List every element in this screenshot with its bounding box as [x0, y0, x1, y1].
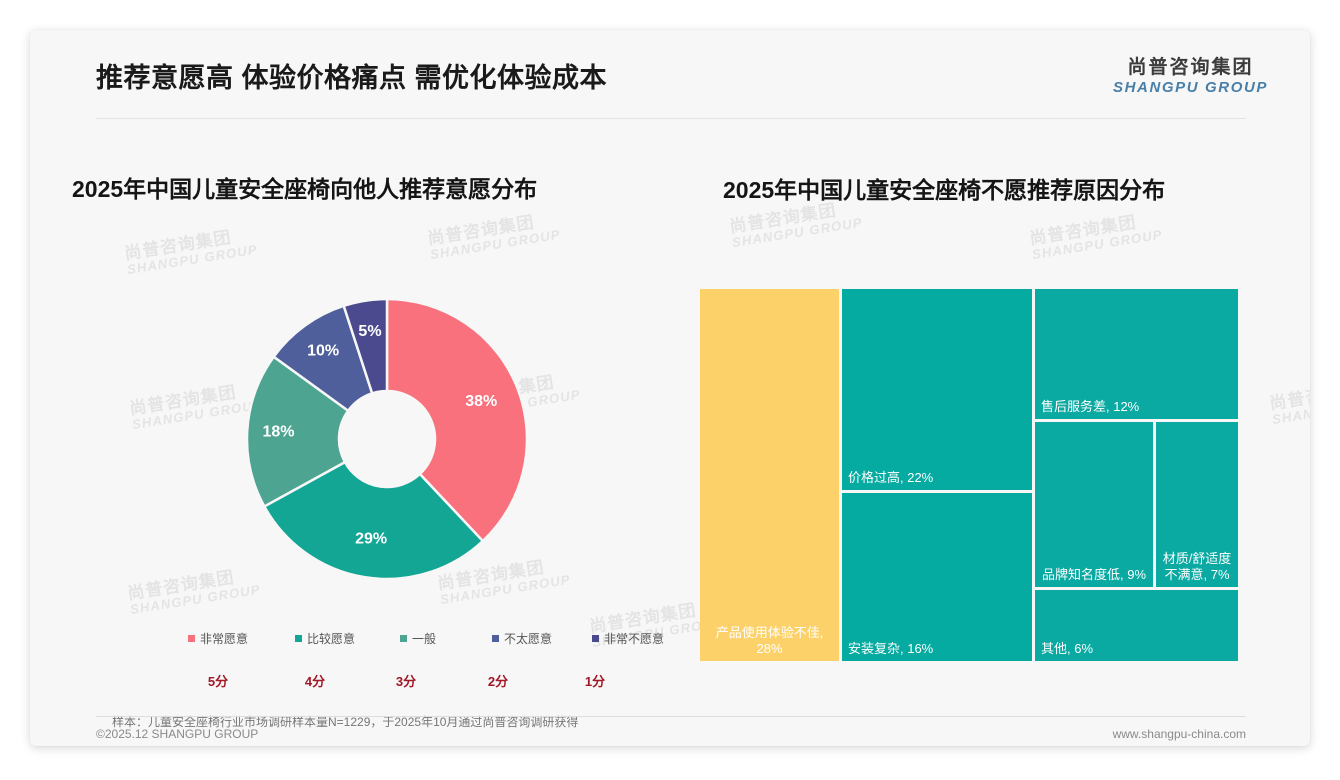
donut-hole	[340, 392, 434, 486]
brand-logo: 尚普咨询集团 SHANGPU GROUP	[1113, 57, 1268, 97]
treemap-tile-价格过高[interactable]: 价格过高, 22%	[842, 289, 1032, 490]
footer-divider	[96, 716, 1246, 717]
watermark-cn-text: 尚普咨询集团	[1028, 210, 1161, 248]
watermark-en-text: SHANGPU GROUP	[731, 216, 863, 250]
treemap-tile-label: 安装复杂, 16%	[848, 641, 1028, 657]
treemap-tile-其他[interactable]: 其他, 6%	[1035, 590, 1238, 661]
donut-score-row: 5分4分3分2分1分	[70, 671, 690, 693]
header-divider	[96, 118, 1246, 119]
left-chart-title: 2025年中国儿童安全座椅向他人推荐意愿分布	[72, 170, 537, 204]
treemap-tile-售后服务差[interactable]: 售后服务差, 12%	[1035, 289, 1238, 419]
legend-item-非常不愿意[interactable]: 非常不愿意	[592, 630, 664, 647]
treemap-chart: 产品使用体验不佳, 28%价格过高, 22%安装复杂, 16%售后服务差, 12…	[670, 259, 1270, 661]
legend-label: 一般	[412, 630, 436, 647]
slide-header: 推荐意愿高 体验价格痛点 需优化体验成本 尚普咨询集团 SHANGPU GROU…	[30, 30, 1310, 115]
treemap-tile-label: 其他, 6%	[1041, 641, 1234, 657]
right-chart-title: 2025年中国儿童安全座椅不愿推荐原因分布	[723, 171, 1165, 205]
slide-footer: ©2025.12 SHANGPU GROUP www.shangpu-china…	[30, 716, 1310, 746]
treemap-tile-label: 售后服务差, 12%	[1041, 399, 1234, 415]
legend-swatch-icon	[188, 635, 195, 642]
score-label-3分: 3分	[396, 671, 416, 690]
watermark-cn-text: 尚普咨询集团	[1268, 375, 1310, 413]
treemap-tile-label: 价格过高, 22%	[848, 470, 1028, 486]
legend-item-不太愿意[interactable]: 不太愿意	[492, 630, 552, 647]
score-label-4分: 4分	[305, 671, 325, 690]
score-label-2分: 2分	[488, 671, 508, 690]
score-label-5分: 5分	[208, 671, 228, 690]
slide-canvas: 尚普咨询集团SHANGPU GROUP 尚普咨询集团SHANGPU GROUP …	[30, 30, 1310, 746]
page-title: 推荐意愿高 体验价格痛点 需优化体验成本	[96, 56, 607, 95]
donut-legend: 非常愿意比较愿意一般不太愿意非常不愿意	[70, 630, 690, 652]
donut-slice-label: 18%	[262, 423, 294, 440]
footer-website: www.shangpu-china.com	[1113, 727, 1246, 741]
legend-swatch-icon	[592, 635, 599, 642]
donut-slice-label: 29%	[355, 530, 387, 547]
legend-item-比较愿意[interactable]: 比较愿意	[295, 630, 355, 647]
treemap-tile-label: 品牌知名度低, 9%	[1039, 567, 1149, 583]
legend-item-非常愿意[interactable]: 非常愿意	[188, 630, 248, 647]
brand-name-cn: 尚普咨询集团	[1113, 57, 1268, 79]
donut-slice-label: 5%	[358, 323, 381, 340]
watermark-en-text: SHANGPU GROUP	[1271, 393, 1310, 427]
legend-swatch-icon	[492, 635, 499, 642]
legend-item-一般[interactable]: 一般	[400, 630, 436, 647]
legend-swatch-icon	[400, 635, 407, 642]
treemap-tile-安装复杂[interactable]: 安装复杂, 16%	[842, 493, 1032, 661]
treemap-tile-材质/舒适度不满意[interactable]: 材质/舒适度不满意, 7%	[1156, 422, 1238, 587]
donut-chart: 38%29%18%10%5%	[70, 225, 680, 665]
treemap-tile-品牌知名度低[interactable]: 品牌知名度低, 9%	[1035, 422, 1153, 587]
legend-label: 比较愿意	[307, 630, 355, 647]
score-label-1分: 1分	[585, 671, 605, 690]
legend-label: 不太愿意	[504, 630, 552, 647]
brand-name-en: SHANGPU GROUP	[1113, 79, 1268, 97]
legend-label: 非常愿意	[200, 630, 248, 647]
legend-swatch-icon	[295, 635, 302, 642]
watermark-en-text: SHANGPU GROUP	[1031, 228, 1163, 262]
donut-chart-svg: 38%29%18%10%5%	[70, 225, 680, 665]
footer-copyright: ©2025.12 SHANGPU GROUP	[96, 727, 258, 741]
treemap-tile-产品使用体验不佳[interactable]: 产品使用体验不佳, 28%	[700, 289, 839, 661]
treemap-tile-label: 材质/舒适度不满意, 7%	[1160, 551, 1234, 583]
treemap-tile-label: 产品使用体验不佳, 28%	[704, 625, 835, 657]
donut-slice-label: 10%	[307, 342, 339, 359]
donut-slice-label: 38%	[465, 393, 497, 410]
legend-label: 非常不愿意	[604, 630, 664, 647]
